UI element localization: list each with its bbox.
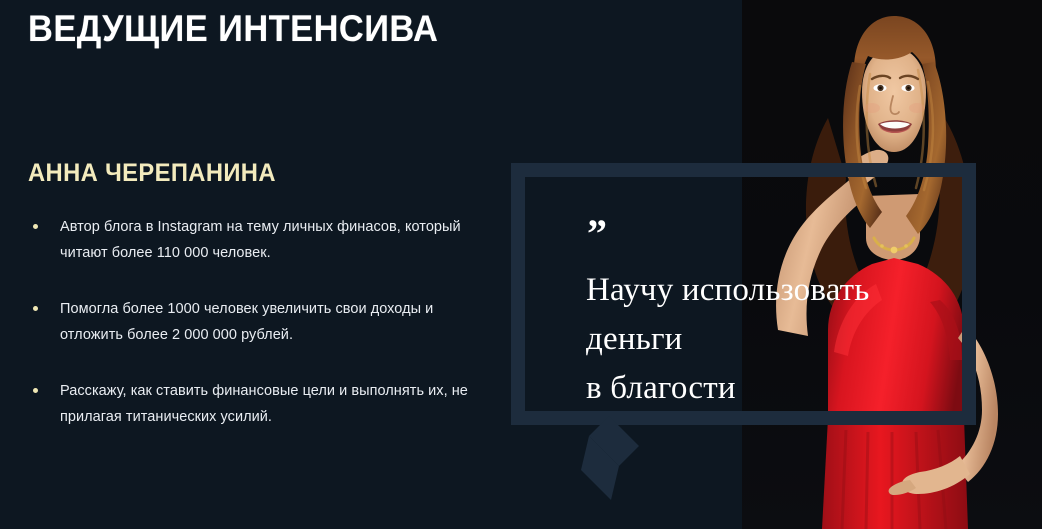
list-item: Помогла более 1000 человек увеличить сво… — [28, 296, 468, 348]
bullet-dot-icon — [33, 224, 38, 229]
list-item: Автор блога в Instagram на тему личных ф… — [28, 214, 468, 266]
list-item-text: Расскажу, как ставить финансовые цели и … — [60, 383, 468, 425]
list-item-text: Помогла более 1000 человек увеличить сво… — [60, 301, 433, 343]
list-item-text: Автор блога в Instagram на тему личных ф… — [60, 219, 461, 261]
bullet-dot-icon — [33, 388, 38, 393]
speaker-bullet-list: Автор блога в Instagram на тему личных ф… — [28, 214, 468, 430]
quote-text: Научу использовать деньги в благости — [586, 266, 926, 413]
quote-mark-icon: ” — [587, 214, 607, 254]
quote-line: Научу использовать — [586, 266, 926, 315]
list-item: Расскажу, как ставить финансовые цели и … — [28, 378, 468, 430]
speaker-info-column: АННА ЧЕРЕПАНИНА Автор блога в Instagram … — [28, 158, 468, 430]
speaker-name: АННА ЧЕРЕПАНИНА — [28, 158, 446, 188]
slide-canvas: ВЕДУЩИЕ ИНТЕНСИВА АННА ЧЕРЕПАНИНА Автор … — [0, 0, 1042, 529]
page-title: ВЕДУЩИЕ ИНТЕНСИВА — [28, 7, 438, 51]
quote-line: в благости — [586, 364, 926, 413]
speech-bubble-tail-icon — [565, 416, 705, 526]
bullet-dot-icon — [33, 306, 38, 311]
quote-line: деньги — [586, 315, 926, 364]
